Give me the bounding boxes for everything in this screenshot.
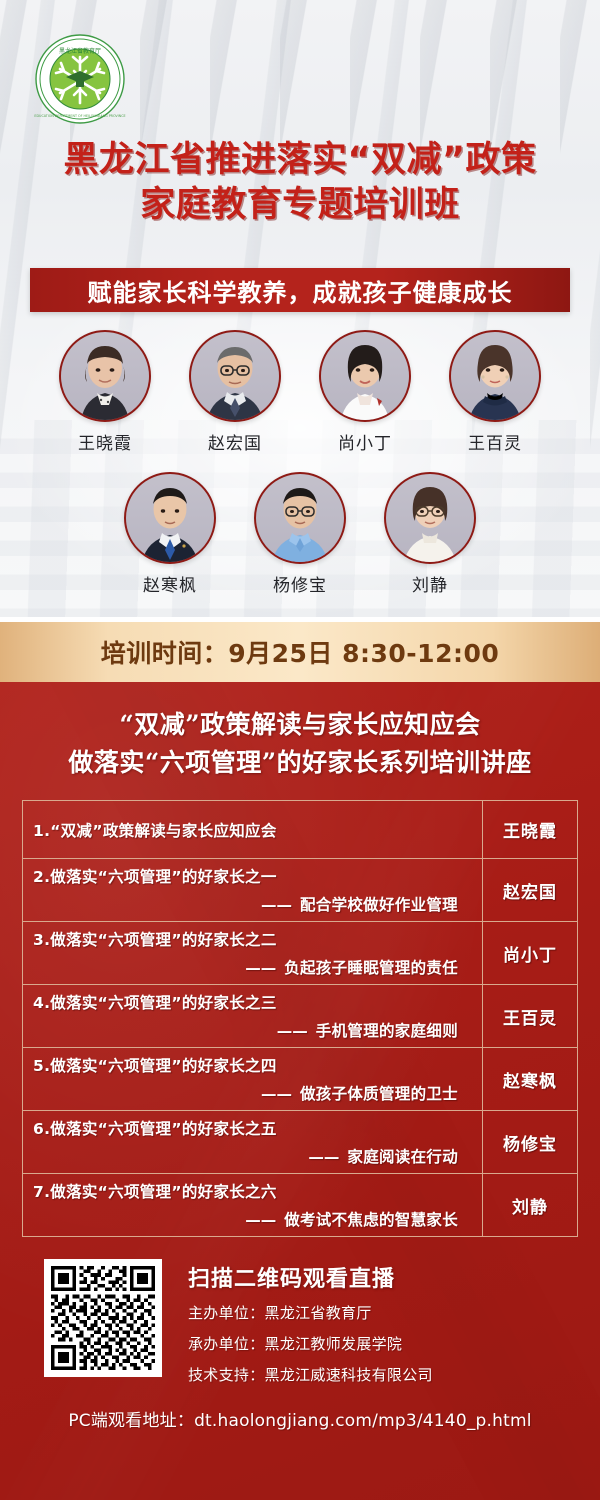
program-heading-line-1: “双减”政策解读与家长应知应会 — [0, 706, 600, 744]
svg-text:EDUCATION DEPARTMENT OF HEILON: EDUCATION DEPARTMENT OF HEILONGJIANG PRO… — [34, 114, 125, 118]
topic-main: 4.做落实“六项管理”的好家长之三 — [33, 991, 472, 1013]
table-cell-topic: 5.做落实“六项管理”的好家长之四 ——做孩子体质管理的卫士 — [23, 1048, 483, 1111]
table-cell-speaker: 刘静 — [483, 1174, 578, 1237]
speaker-card[interactable]: 赵宏国 — [185, 330, 285, 454]
speaker-name: 王晓霞 — [78, 429, 132, 454]
qr-caption: 扫描二维码观看直播 — [188, 1261, 433, 1293]
avatar — [449, 330, 541, 422]
speaker-card[interactable]: 刘静 — [380, 472, 480, 596]
topic-main: 5.做落实“六项管理”的好家长之四 — [33, 1054, 472, 1076]
dash: —— — [261, 896, 292, 914]
speaker-card[interactable]: 尚小丁 — [315, 330, 415, 454]
footer-section: 扫描二维码观看直播 主办单位：黑龙江省教育厅 承办单位：黑龙江教师发展学院 技术… — [0, 1259, 600, 1386]
program-heading: “双减”政策解读与家长应知应会 做落实“六项管理”的好家长系列培训讲座 — [0, 682, 600, 782]
subtitle-text: 赋能家长科学教养，成就孩子健康成长 — [88, 273, 513, 308]
table-row[interactable]: 6.做落实“六项管理”的好家长之五 ——家庭阅读在行动 杨修宝 — [23, 1111, 578, 1174]
speaker-name: 刘静 — [412, 571, 448, 596]
dash: —— — [245, 959, 276, 977]
education-department-logo-icon: 黑龙江省教育厅 EDUCATION DEPARTMENT OF HEILONGJ… — [34, 33, 126, 125]
topic-main: 7.做落实“六项管理”的好家长之六 — [33, 1180, 472, 1202]
table-row[interactable]: 4.做落实“六项管理”的好家长之三 ——手机管理的家庭细则 王百灵 — [23, 985, 578, 1048]
speaker-card[interactable]: 王晓霞 — [55, 330, 155, 454]
training-time-text: 培训时间：9月25日 8:30-12:00 — [101, 634, 500, 670]
pc-url-label: PC端观看地址： — [68, 1411, 194, 1431]
title-line-1: 黑龙江省推进落实“双减”政策 — [63, 140, 536, 180]
tech-support-value: 黑龙江威速科技有限公司 — [265, 1366, 433, 1384]
qr-code-icon[interactable] — [44, 1259, 162, 1377]
organizer-label: 主办单位： — [188, 1304, 265, 1322]
dash: —— — [308, 1148, 339, 1166]
poster-root: 黑龙江省教育厅 EDUCATION DEPARTMENT OF HEILONGJ… — [0, 0, 600, 1500]
table-row[interactable]: 5.做落实“六项管理”的好家长之四 ——做孩子体质管理的卫士 赵寒枫 — [23, 1048, 578, 1111]
speaker-name: 赵宏国 — [208, 429, 262, 454]
topic-main: 6.做落实“六项管理”的好家长之五 — [33, 1117, 472, 1139]
topic-main: 1.“双减”政策解读与家长应知应会 — [33, 819, 472, 841]
speakers-section: 王晓霞 赵宏国 尚小丁 王百灵 — [0, 330, 600, 596]
program-heading-line-2: 做落实“六项管理”的好家长系列培训讲座 — [0, 744, 600, 782]
tech-support-line: 技术支持：黑龙江威速科技有限公司 — [188, 1364, 433, 1386]
table-cell-topic: 4.做落实“六项管理”的好家长之三 ——手机管理的家庭细则 — [23, 985, 483, 1048]
organizer-value: 黑龙江省教育厅 — [265, 1304, 372, 1322]
topic-sub: ——手机管理的家庭细则 — [33, 1019, 472, 1041]
topic-sub: ——做考试不焦虑的智慧家长 — [33, 1208, 472, 1230]
speaker-name: 赵寒枫 — [143, 571, 197, 596]
avatar — [124, 472, 216, 564]
subtitle-banner: 赋能家长科学教养，成就孩子健康成长 — [30, 268, 570, 312]
poster-title: 黑龙江省推进落实“双减”政策 家庭教育专题培训班 — [0, 138, 600, 228]
table-row[interactable]: 2.做落实“六项管理”的好家长之一 ——配合学校做好作业管理 赵宏国 — [23, 859, 578, 922]
topic-sub-text: 配合学校做好作业管理 — [300, 896, 458, 914]
topic-sub: ——家庭阅读在行动 — [33, 1145, 472, 1167]
table-cell-speaker: 杨修宝 — [483, 1111, 578, 1174]
avatar — [189, 330, 281, 422]
table-cell-speaker: 王晓霞 — [483, 801, 578, 859]
training-time-band: 培训时间：9月25日 8:30-12:00 — [0, 622, 600, 682]
program-section: “双减”政策解读与家长应知应会 做落实“六项管理”的好家长系列培训讲座 1.“双… — [0, 682, 600, 1500]
topic-main: 2.做落实“六项管理”的好家长之一 — [33, 865, 472, 887]
title-line-2: 家庭教育专题培训班 — [0, 183, 600, 228]
speaker-name: 杨修宝 — [273, 571, 327, 596]
topic-sub: ——配合学校做好作业管理 — [33, 893, 472, 915]
avatar — [59, 330, 151, 422]
coorganizer-line: 承办单位：黑龙江教师发展学院 — [188, 1333, 433, 1355]
table-cell-speaker: 赵宏国 — [483, 859, 578, 922]
speakers-row-1: 王晓霞 赵宏国 尚小丁 王百灵 — [0, 330, 600, 454]
table-row[interactable]: 3.做落实“六项管理”的好家长之二 ——负起孩子睡眠管理的责任 尚小丁 — [23, 922, 578, 985]
table-cell-speaker: 赵寒枫 — [483, 1048, 578, 1111]
topic-sub: ——做孩子体质管理的卫士 — [33, 1082, 472, 1104]
table-cell-speaker: 尚小丁 — [483, 922, 578, 985]
speaker-card[interactable]: 赵寒枫 — [120, 472, 220, 596]
table-cell-topic: 6.做落实“六项管理”的好家长之五 ——家庭阅读在行动 — [23, 1111, 483, 1174]
table-row[interactable]: 7.做落实“六项管理”的好家长之六 ——做考试不焦虑的智慧家长 刘静 — [23, 1174, 578, 1237]
speaker-name: 尚小丁 — [338, 429, 392, 454]
topic-sub-text: 手机管理的家庭细则 — [316, 1022, 458, 1040]
topic-sub-text: 做考试不焦虑的智慧家长 — [284, 1211, 458, 1229]
speaker-card[interactable]: 王百灵 — [445, 330, 545, 454]
table-cell-topic: 7.做落实“六项管理”的好家长之六 ——做考试不焦虑的智慧家长 — [23, 1174, 483, 1237]
topic-main: 3.做落实“六项管理”的好家长之二 — [33, 928, 472, 950]
pc-url-value: dt.haolongjiang.com/mp3/4140_p.html — [194, 1411, 532, 1431]
footer-meta: 扫描二维码观看直播 主办单位：黑龙江省教育厅 承办单位：黑龙江教师发展学院 技术… — [188, 1259, 433, 1386]
avatar — [319, 330, 411, 422]
program-table: 1.“双减”政策解读与家长应知应会 王晓霞 2.做落实“六项管理”的好家长之一 … — [22, 800, 578, 1237]
coorganizer-value: 黑龙江教师发展学院 — [265, 1335, 403, 1353]
table-cell-topic: 2.做落实“六项管理”的好家长之一 ——配合学校做好作业管理 — [23, 859, 483, 922]
topic-sub: ——负起孩子睡眠管理的责任 — [33, 956, 472, 978]
speaker-card[interactable]: 杨修宝 — [250, 472, 350, 596]
avatar — [384, 472, 476, 564]
topic-sub-text: 家庭阅读在行动 — [347, 1148, 458, 1166]
coorganizer-label: 承办单位： — [188, 1335, 265, 1353]
organizer-line: 主办单位：黑龙江省教育厅 — [188, 1302, 433, 1324]
svg-text:黑龙江省教育厅: 黑龙江省教育厅 — [59, 47, 101, 55]
table-cell-speaker: 王百灵 — [483, 985, 578, 1048]
speaker-name: 王百灵 — [468, 429, 522, 454]
pc-url-line[interactable]: PC端观看地址：dt.haolongjiang.com/mp3/4140_p.h… — [0, 1406, 600, 1431]
table-cell-topic: 3.做落实“六项管理”的好家长之二 ——负起孩子睡眠管理的责任 — [23, 922, 483, 985]
tech-support-label: 技术支持： — [188, 1366, 265, 1384]
topic-sub-text: 做孩子体质管理的卫士 — [300, 1085, 458, 1103]
avatar — [254, 472, 346, 564]
table-cell-topic: 1.“双减”政策解读与家长应知应会 — [23, 801, 483, 859]
dash: —— — [261, 1085, 292, 1103]
topic-sub-text: 负起孩子睡眠管理的责任 — [284, 959, 458, 977]
table-row[interactable]: 1.“双减”政策解读与家长应知应会 王晓霞 — [23, 801, 578, 859]
dash: —— — [245, 1211, 276, 1229]
dash: —— — [277, 1022, 308, 1040]
speakers-row-2: 赵寒枫 杨修宝 刘静 — [0, 472, 600, 596]
